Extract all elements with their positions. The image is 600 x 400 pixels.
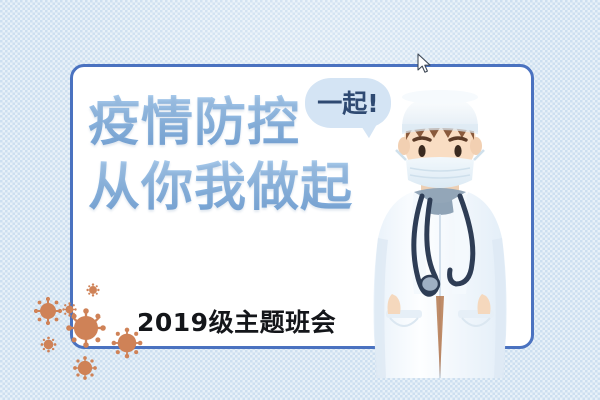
virus-particle — [72, 355, 98, 381]
virus-particle — [40, 336, 57, 353]
speech-bubble-text: 一起! — [305, 78, 391, 128]
poster-canvas: 疫情防控 从你我做起 一起! 2019级主题班会 — [0, 0, 600, 400]
virus-particle — [86, 283, 100, 297]
subtitle: 2019级主题班会 — [137, 303, 336, 339]
headline-line-2: 从你我做起 — [88, 158, 378, 219]
virus-particle — [33, 296, 63, 326]
mouse-pointer-icon — [416, 53, 432, 80]
doctor-illustration — [356, 88, 526, 378]
virus-particle — [110, 326, 144, 360]
virus-particle — [64, 306, 108, 350]
speech-bubble: 一起! — [305, 78, 391, 128]
